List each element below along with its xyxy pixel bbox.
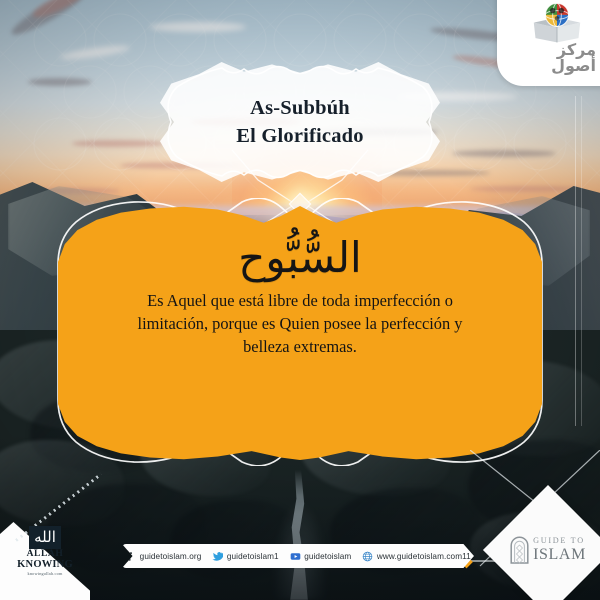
youtube-icon — [290, 551, 301, 562]
social-link-website[interactable]: www.guidetoislam.com11 — [362, 551, 470, 562]
guide-to-islam-logo[interactable]: GUIDE TO ISLAM — [502, 504, 594, 596]
website-icon — [362, 551, 373, 562]
social-label-youtube: guidetoislam — [304, 552, 351, 561]
poster-canvas: مركز أصول As-Subbúh El Glorificado السُّ… — [0, 0, 600, 600]
social-link-facebook[interactable]: guidetoislam.org — [125, 551, 201, 562]
main-orange-panel: السُّبُّوح Es Aquel que está libre de to… — [58, 206, 542, 460]
translation-label: El Glorificado — [236, 123, 364, 149]
frame-line-right — [575, 96, 576, 426]
social-label-website: www.guidetoislam.com11 — [377, 552, 471, 561]
markaz-usul-logo[interactable]: مركز أصول — [518, 2, 596, 74]
allah-website-label: knowingallah.com — [27, 571, 62, 576]
gti-label-line2: ISLAM — [533, 547, 586, 563]
twitter-icon — [212, 551, 223, 562]
transliteration-label: As-Subbúh — [250, 95, 350, 121]
allah-label-line2: KNOWING — [17, 560, 73, 571]
social-label-facebook: guidetoislam.org — [140, 552, 202, 561]
mihrab-arch-icon — [510, 536, 529, 564]
allah-label-line1: ALLAH — [27, 550, 64, 560]
social-link-youtube[interactable]: guidetoislam — [290, 551, 352, 562]
description-text: Es Aquel que está libre de toda imperfec… — [130, 290, 470, 359]
title-text-block: As-Subbúh El Glorificado — [160, 62, 440, 182]
markaz-usul-arabic-text: مركز أصول — [518, 42, 596, 74]
frame-line-right-secondary — [581, 96, 582, 426]
allah-arabic-glyph: الله — [34, 530, 56, 545]
allah-calligraphy-box: الله — [29, 526, 61, 549]
globe-over-open-book-icon — [526, 2, 588, 45]
social-links-bar: guidetoislam.org guidetoislam1 guidetois… — [122, 544, 474, 568]
gti-label-line1: GUIDE TO — [533, 537, 586, 545]
orange-panel-content: السُّبُّوح Es Aquel que está libre de to… — [58, 206, 542, 460]
social-link-twitter[interactable]: guidetoislam1 — [212, 551, 278, 562]
social-label-twitter: guidetoislam1 — [227, 552, 279, 561]
title-cartouche: As-Subbúh El Glorificado — [160, 62, 440, 182]
allah-knowing-logo[interactable]: الله ALLAH KNOWING knowingallah.com — [16, 526, 74, 576]
divine-name-arabic: السُّبُّوح — [238, 236, 361, 280]
